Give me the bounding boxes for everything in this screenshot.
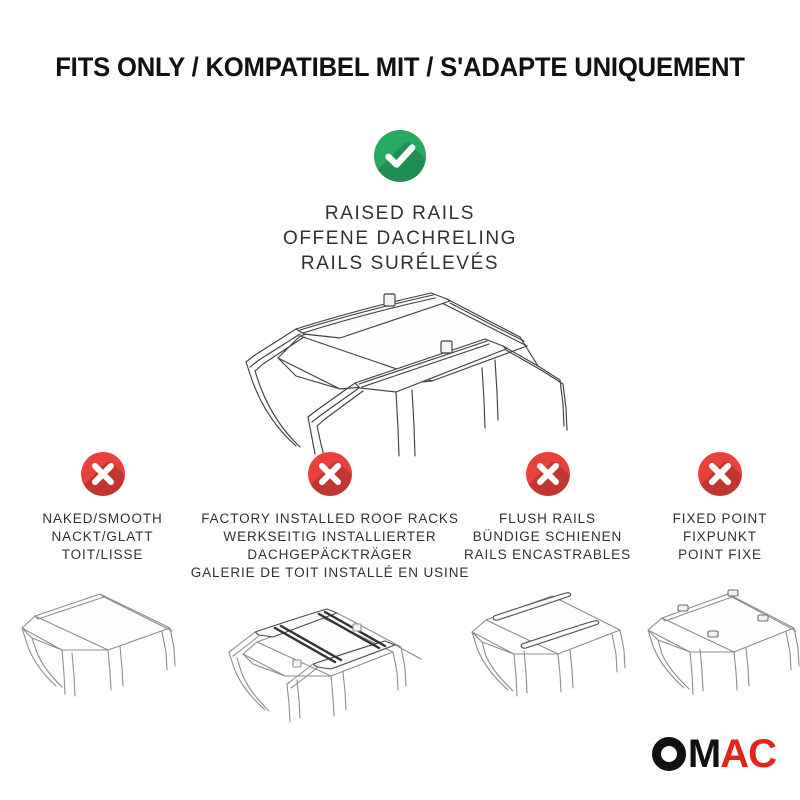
label-fr: TOIT/LISSE [42,546,162,564]
cross-circle-icon [81,452,125,496]
compatible-label-de: OFFENE DACHRELING [283,226,517,251]
compatible-label-en: RAISED RAILS [283,201,517,226]
label-fr: RAILS ENCASTRABLES [464,546,631,564]
compatible-label-fr: RAILS SURÉLEVÉS [283,251,517,276]
incompatible-item-factory-roof-racks: FACTORY INSTALLED ROOF RACKS WERKSEITIG … [205,452,455,747]
label-de: NACKT/GLATT [42,528,162,546]
incompatible-section: NAKED/SMOOTH NACKT/GLATT TOIT/LISSE [0,452,800,747]
cross-circle-icon [698,452,742,496]
logo-o-icon [652,737,686,771]
car-roof-factory-racks-illustration [215,592,445,747]
incompatible-labels-flush-rails: FLUSH RAILS BÜNDIGE SCHIENEN RAILS ENCAS… [464,510,631,564]
label-en: FIXED POINT [673,510,768,528]
label-de: BÜNDIGE SCHIENEN [464,528,631,546]
compatible-labels: RAISED RAILS OFFENE DACHRELING RAILS SUR… [283,201,517,276]
label-en: NAKED/SMOOTH [42,510,162,528]
incompatible-item-flush-rails: FLUSH RAILS BÜNDIGE SCHIENEN RAILS ENCAS… [455,452,640,729]
header-banner: FITS ONLY / KOMPATIBEL MIT / S'ADAPTE UN… [0,52,800,83]
car-roof-naked-smooth-illustration [0,574,205,729]
label-fr: GALERIE DE TOIT INSTALLÉ EN USINE [191,564,470,582]
car-roof-raised-rails-illustration [200,288,600,463]
compatible-section: RAISED RAILS OFFENE DACHRELING RAILS SUR… [0,130,800,463]
incompatible-item-fixed-point: FIXED POINT FIXPUNKT POINT FIXE [640,452,800,729]
incompatible-labels-naked-smooth: NAKED/SMOOTH NACKT/GLATT TOIT/LISSE [42,510,162,564]
incompatible-labels-fixed-point: FIXED POINT FIXPUNKT POINT FIXE [673,510,768,564]
label-en: FACTORY INSTALLED ROOF RACKS [191,510,470,528]
cross-circle-icon [308,452,352,496]
cross-circle-icon [526,452,570,496]
label-de: FIXPUNKT [673,528,768,546]
check-circle-icon [374,130,426,182]
label-de-2: DACHGEPÄCKTRÄGER [191,546,470,564]
logo-text-red: AC [720,734,776,774]
label-fr: POINT FIXE [673,546,768,564]
omac-logo: OMMAC [652,734,776,774]
label-en: FLUSH RAILS [464,510,631,528]
car-roof-fixed-point-illustration [628,574,800,729]
incompatible-labels-factory-roof-racks: FACTORY INSTALLED ROOF RACKS WERKSEITIG … [191,510,470,582]
label-de-1: WERKSEITIG INSTALLIERTER [191,528,470,546]
incompatible-item-naked-smooth: NAKED/SMOOTH NACKT/GLATT TOIT/LISSE [0,452,205,729]
page-title: FITS ONLY / KOMPATIBEL MIT / S'ADAPTE UN… [20,52,780,83]
logo-m-letter: M [688,734,720,774]
car-roof-flush-rails-illustration [448,574,648,729]
